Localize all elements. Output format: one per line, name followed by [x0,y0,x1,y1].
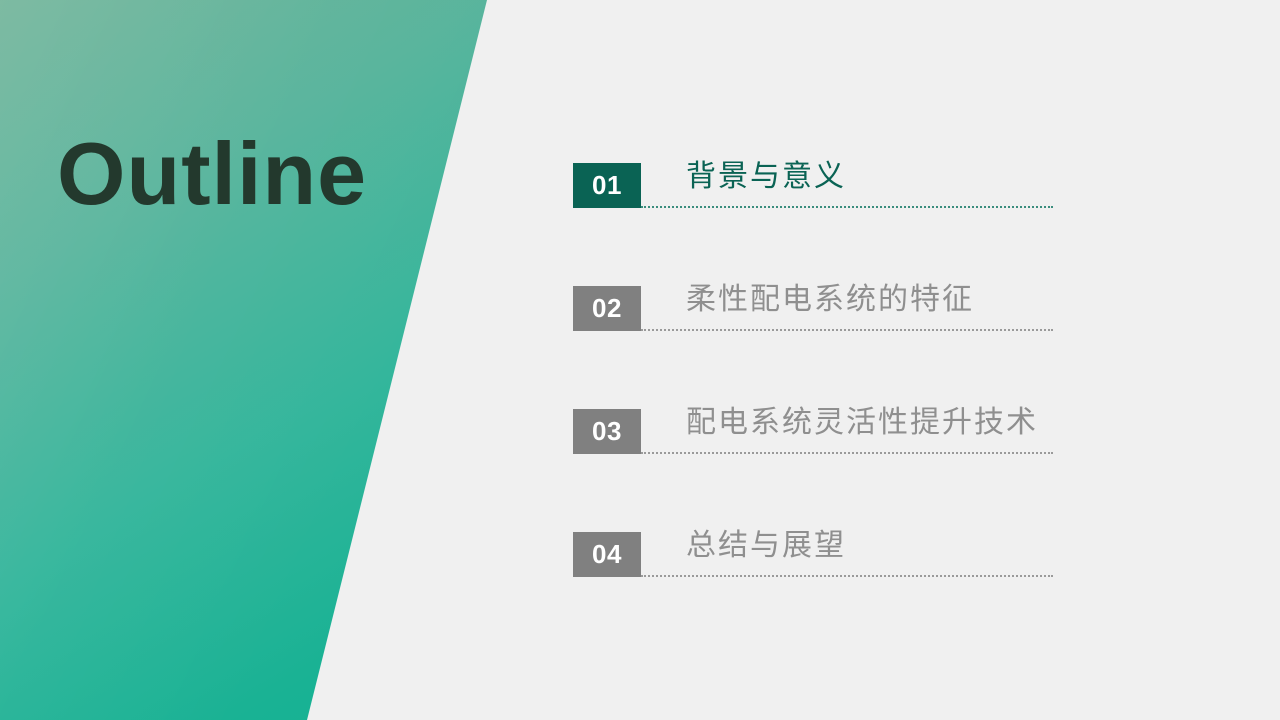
outline-item-body: 背景与意义 [641,163,1053,208]
outline-item-body: 柔性配电系统的特征 [641,286,1053,331]
outline-item-number-badge: 03 [573,409,641,454]
outline-item-02[interactable]: 02 柔性配电系统的特征 [573,286,1053,331]
outline-item-01[interactable]: 01 背景与意义 [573,163,1053,208]
page-title: Outline [57,126,367,221]
outline-item-04[interactable]: 04 总结与展望 [573,532,1053,577]
outline-item-number-badge: 02 [573,286,641,331]
outline-item-body: 配电系统灵活性提升技术 [641,409,1053,454]
outline-item-number-badge: 04 [573,532,641,577]
outline-item-label: 柔性配电系统的特征 [686,285,974,315]
outline-list: 01 背景与意义 02 柔性配电系统的特征 03 配电系统灵活性提升技术 04 … [573,163,1053,577]
outline-item-number-badge: 01 [573,163,641,208]
outline-item-label: 配电系统灵活性提升技术 [686,408,1038,438]
presentation-slide: Outline 01 背景与意义 02 柔性配电系统的特征 03 配电系统灵活性… [0,0,1280,720]
outline-item-label: 背景与意义 [686,162,846,192]
outline-item-label: 总结与展望 [686,531,846,561]
outline-item-03[interactable]: 03 配电系统灵活性提升技术 [573,409,1053,454]
outline-item-body: 总结与展望 [641,532,1053,577]
green-accent-panel [0,0,500,720]
